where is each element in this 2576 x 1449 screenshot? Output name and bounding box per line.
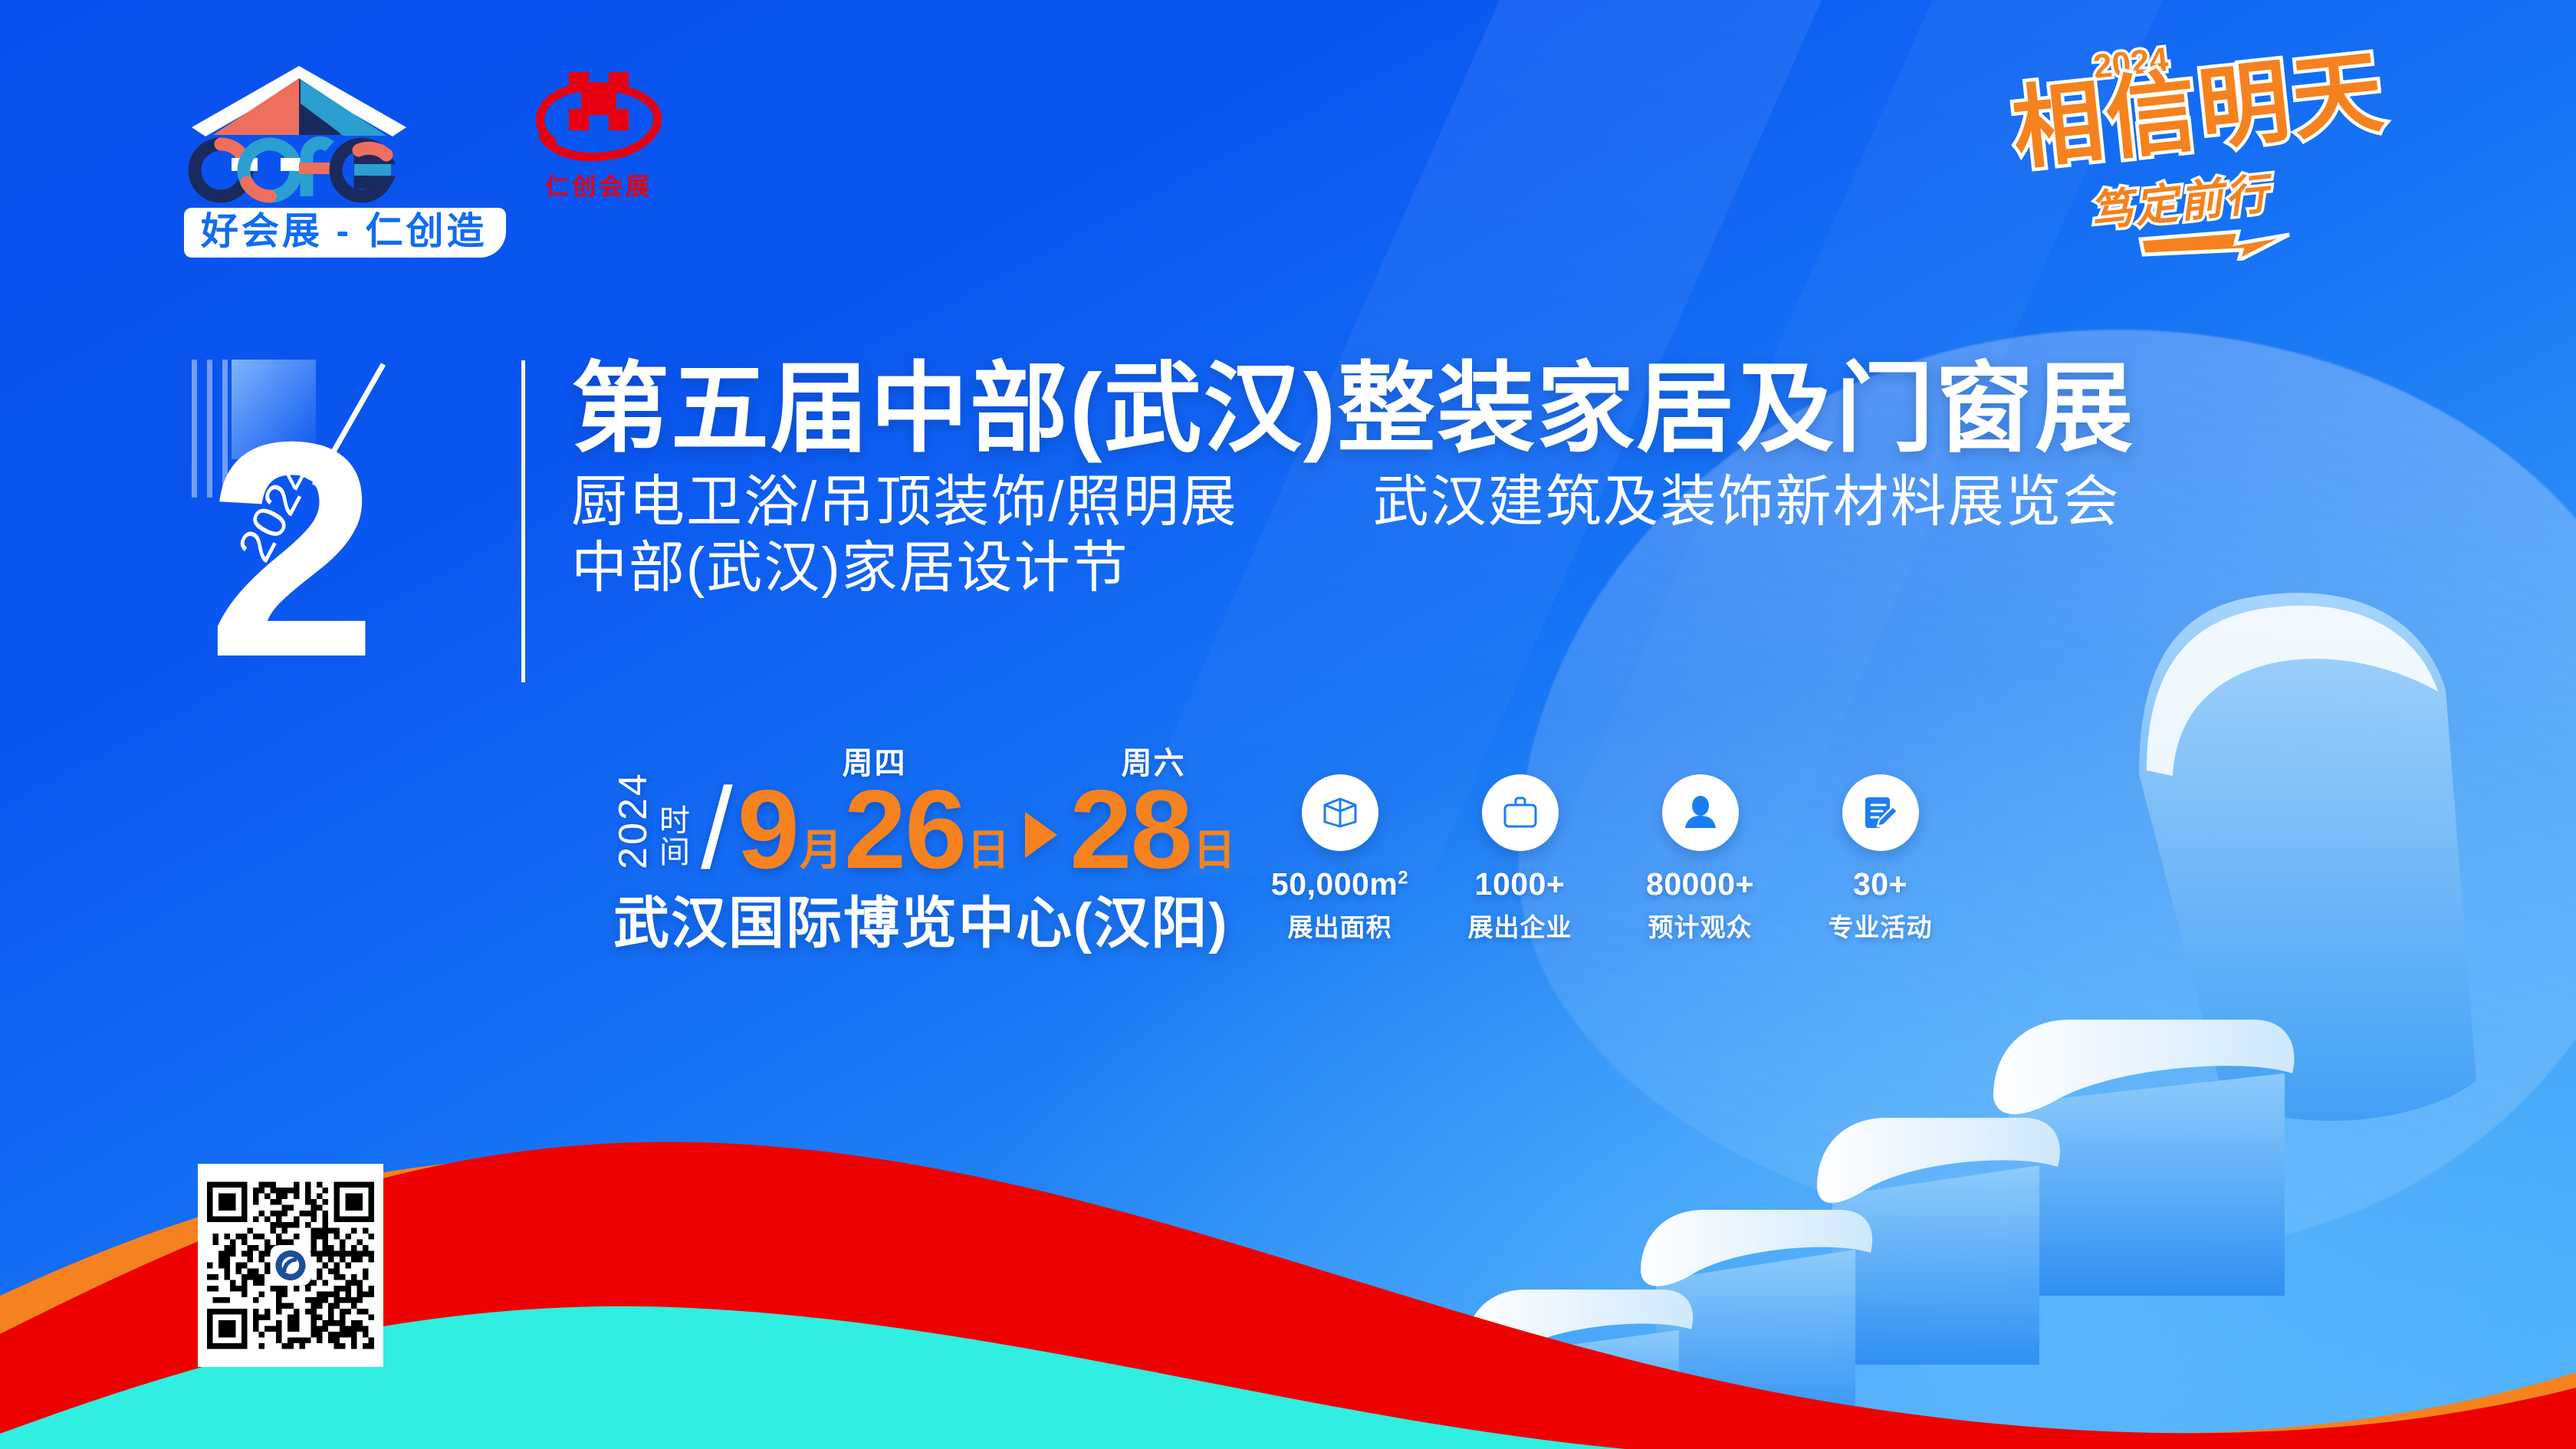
slogan-sub: 笃定前行 — [2088, 169, 2276, 236]
tagline-badge: 好会展 - 仁创造 — [184, 208, 506, 258]
renchuang-logo-group: 仁创会展 — [532, 66, 666, 202]
subtitle-line-2: 中部(武汉)家居设计节 — [571, 535, 1238, 601]
slogan-main: 相信明天 — [2009, 41, 2390, 181]
date-separator: / — [701, 779, 733, 878]
stat-value: 50,000m2 — [1271, 866, 1408, 902]
booth-icon — [1302, 774, 1378, 851]
stat-item: 50,000m2 展出面积 — [1273, 774, 1407, 944]
briefcase-icon — [1482, 774, 1559, 851]
date-end-weekday: 周六 — [1122, 738, 1186, 783]
date-year: 2024 — [576, 800, 691, 840]
edition-numeral-graphic: 2 2024 — [192, 349, 521, 709]
hero-titles: 第五届中部(武汉)整装家居及门窗展 厨电卫浴/吊顶装饰/照明展 中部(武汉)家居… — [571, 357, 2134, 601]
stat-label: 展出面积 — [1288, 907, 1392, 944]
stat-value: 30+ — [1853, 866, 1907, 902]
qr-code-image — [207, 1173, 374, 1358]
stat-item: 80000+ 预计观众 — [1633, 774, 1767, 944]
edition-number: 2 — [207, 378, 377, 721]
date-month: 9 — [738, 781, 798, 878]
subtitle-line-1: 厨电卫浴/吊顶装饰/照明展 — [571, 469, 1238, 535]
stat-value: 80000+ — [1646, 866, 1754, 902]
date-start-day: 26 — [844, 781, 965, 878]
ccfe-logo-icon — [184, 61, 414, 203]
ccfe-logo-group: 好会展 - 仁创造 — [184, 61, 506, 258]
exhibition-poster: 好会展 - 仁创造 仁创会展 2024 相信明天 笃定前行 — [0, 0, 2576, 1449]
slogan-arrow-icon — [2141, 232, 2289, 261]
document-pen-icon — [1842, 774, 1919, 851]
qr-code[interactable] — [198, 1164, 383, 1367]
stat-value: 1000+ — [1475, 866, 1566, 902]
renchuang-mark-icon — [532, 66, 666, 166]
stat-label: 专业活动 — [1829, 907, 1933, 944]
person-icon — [1662, 774, 1739, 851]
stats-row: 50,000m2 展出面积 1000+ 展出企业 80000+ — [1273, 774, 1947, 944]
slogan-artwork: 2024 相信明天 笃定前行 — [2009, 38, 2438, 261]
header-logos: 好会展 - 仁创造 仁创会展 — [184, 61, 666, 258]
renchuang-name: 仁创会展 — [545, 167, 652, 202]
date-end-day: 28 — [1069, 781, 1191, 878]
stat-item: 1000+ 展出企业 — [1453, 774, 1587, 944]
page-title: 第五届中部(武汉)整装家居及门窗展 — [571, 357, 2134, 462]
date-end-unit: 日 — [1193, 829, 1236, 872]
title-divider — [521, 360, 525, 682]
date-start: 9 月 周四 26 日 — [738, 781, 1012, 878]
date-start-weekday: 周四 — [842, 738, 906, 783]
venue-name: 武汉国际博览中心(汉阳) — [613, 878, 1229, 959]
bottom-waves — [0, 974, 2576, 1449]
stat-item: 30+ 专业活动 — [1813, 774, 1947, 944]
event-date-block: 2024 时间 / 9 月 周四 26 日 周六 28 日 — [613, 763, 1237, 878]
stat-label: 预计观众 — [1648, 907, 1753, 944]
date-end: 周六 28 日 — [1069, 781, 1237, 878]
date-month-unit: 月 — [800, 829, 843, 872]
stat-label: 展出企业 — [1468, 907, 1572, 944]
date-range-arrow-icon — [1025, 812, 1057, 858]
subtitle-right: 武汉建筑及装饰新材料展览会 — [1373, 469, 2121, 535]
date-start-unit: 日 — [967, 829, 1010, 872]
